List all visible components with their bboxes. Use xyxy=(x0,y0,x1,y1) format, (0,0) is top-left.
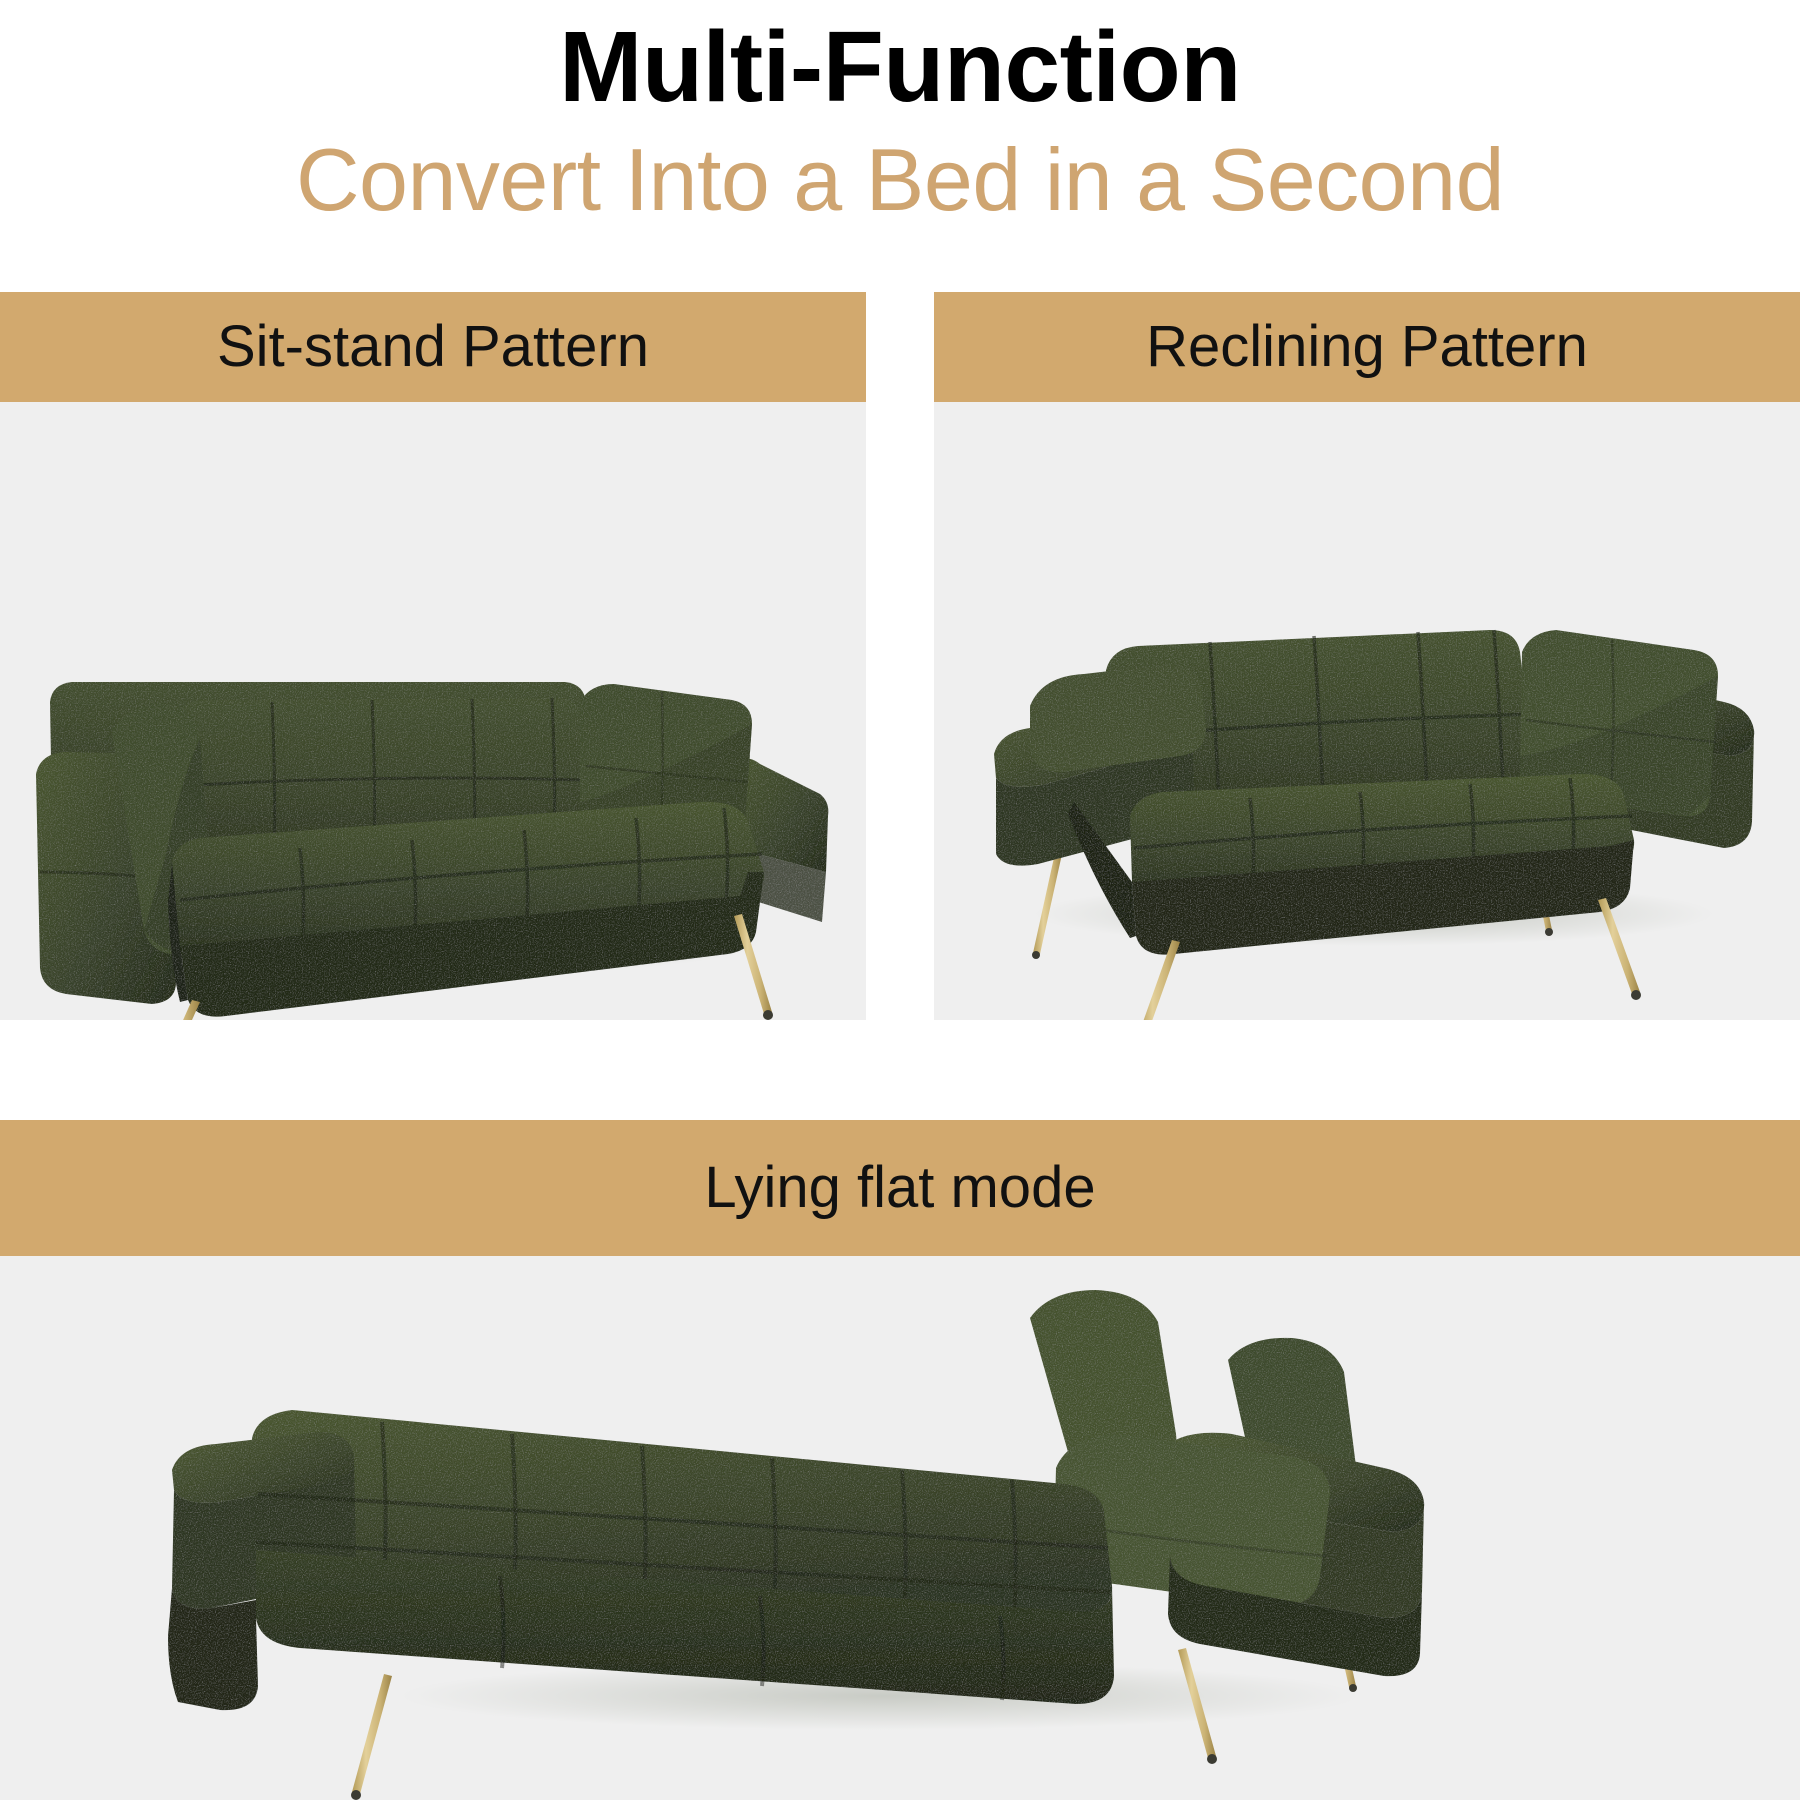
header: Multi-Function Convert Into a Bed in a S… xyxy=(0,0,1800,292)
bolster-pillow-left xyxy=(1030,664,1206,772)
panel-reclining-header: Reclining Pattern xyxy=(934,292,1800,402)
panel-lying-flat-header: Lying flat mode xyxy=(0,1120,1800,1256)
page-title: Multi-Function xyxy=(0,8,1800,126)
infographic-page: Multi-Function Convert Into a Bed in a S… xyxy=(0,0,1800,1800)
panel-sit-stand-label: Sit-stand Pattern xyxy=(217,314,649,380)
panel-sit-stand-image xyxy=(0,402,866,1020)
page-subtitle: Convert Into a Bed in a Second xyxy=(0,126,1800,234)
panel-lying-flat-label: Lying flat mode xyxy=(704,1155,1095,1221)
sofa-bed-flat-illustration xyxy=(0,1256,1800,1800)
panel-reclining: Reclining Pattern xyxy=(934,292,1800,1020)
panel-sit-stand: Sit-stand Pattern xyxy=(0,292,866,1020)
panel-sit-stand-header: Sit-stand Pattern xyxy=(0,292,866,402)
panel-lying-flat: Lying flat mode xyxy=(0,1120,1800,1800)
sofa-sit-stand-illustration xyxy=(0,402,866,1020)
panel-reclining-image xyxy=(934,402,1800,1020)
panel-reclining-label: Reclining Pattern xyxy=(1146,314,1588,380)
panel-lying-flat-image xyxy=(0,1256,1800,1800)
bed-body-flat xyxy=(168,1290,1424,1710)
sofa-body-sit xyxy=(36,682,828,1017)
sofa-reclining-illustration xyxy=(934,402,1800,1020)
